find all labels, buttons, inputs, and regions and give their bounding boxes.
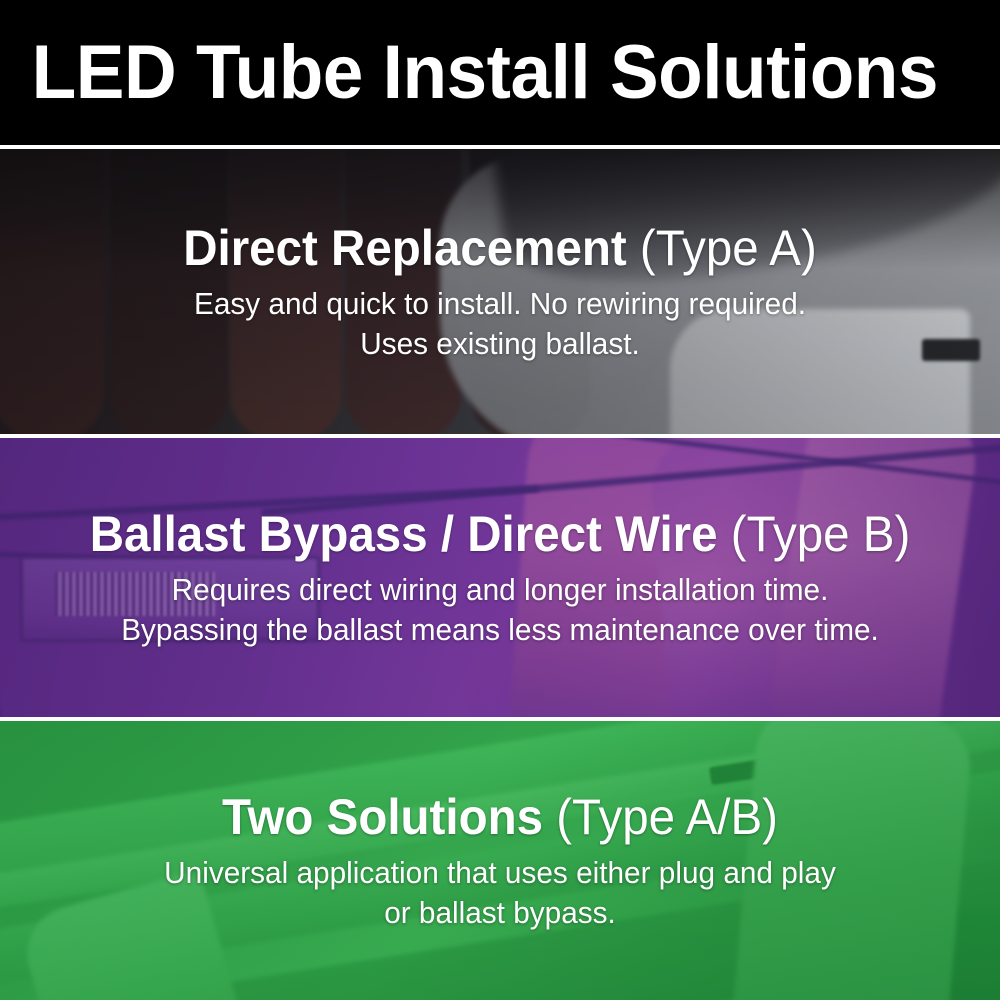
panel-a-subtitle-line-2: Uses existing ballast. — [20, 324, 980, 364]
panel-b-subtitle-line-2: Bypassing the ballast means less mainten… — [20, 610, 980, 650]
panel-b-heading: Ballast Bypass / Direct Wire (Type B) — [25, 506, 975, 562]
panel-c-subtitle: Universal application that uses either p… — [20, 853, 980, 933]
panel-b-subtitle: Requires direct wiring and longer instal… — [20, 570, 980, 650]
page-title: LED Tube Install Solutions — [0, 35, 938, 111]
panel-c-heading: Two Solutions (Type A/B) — [25, 789, 975, 845]
panel-a-heading-type: (Type A) — [640, 220, 817, 276]
panel-a-heading: Direct Replacement (Type A) — [25, 220, 975, 276]
led-tube-install-infographic: LED Tube Install Solutions Direct Replac… — [0, 0, 1000, 1000]
panel-c-heading-strong: Two Solutions — [222, 789, 543, 845]
panel-c-text: Two Solutions (Type A/B) Universal appli… — [0, 789, 1000, 933]
panel-b-text: Ballast Bypass / Direct Wire (Type B) Re… — [0, 506, 1000, 650]
panel-a-subtitle: Easy and quick to install. No rewiring r… — [20, 284, 980, 364]
panel-a-text: Direct Replacement (Type A) Easy and qui… — [0, 220, 1000, 364]
panel-b-heading-type: (Type B) — [731, 506, 911, 562]
panel-a-subtitle-line-1: Easy and quick to install. No rewiring r… — [20, 284, 980, 324]
panel-type-ab: Two Solutions (Type A/B) Universal appli… — [0, 721, 1000, 1000]
panel-c-heading-type: (Type A/B) — [556, 789, 778, 845]
panel-b-heading-strong: Ballast Bypass / Direct Wire — [90, 506, 718, 562]
panel-c-subtitle-line-2: or ballast bypass. — [20, 893, 980, 933]
panel-b-subtitle-line-1: Requires direct wiring and longer instal… — [20, 570, 980, 610]
panel-type-b: Ballast Bypass / Direct Wire (Type B) Re… — [0, 438, 1000, 717]
panel-type-a: Direct Replacement (Type A) Easy and qui… — [0, 149, 1000, 434]
panel-c-subtitle-line-1: Universal application that uses either p… — [20, 853, 980, 893]
header-band: LED Tube Install Solutions — [0, 0, 1000, 145]
panel-a-heading-strong: Direct Replacement — [183, 220, 627, 276]
